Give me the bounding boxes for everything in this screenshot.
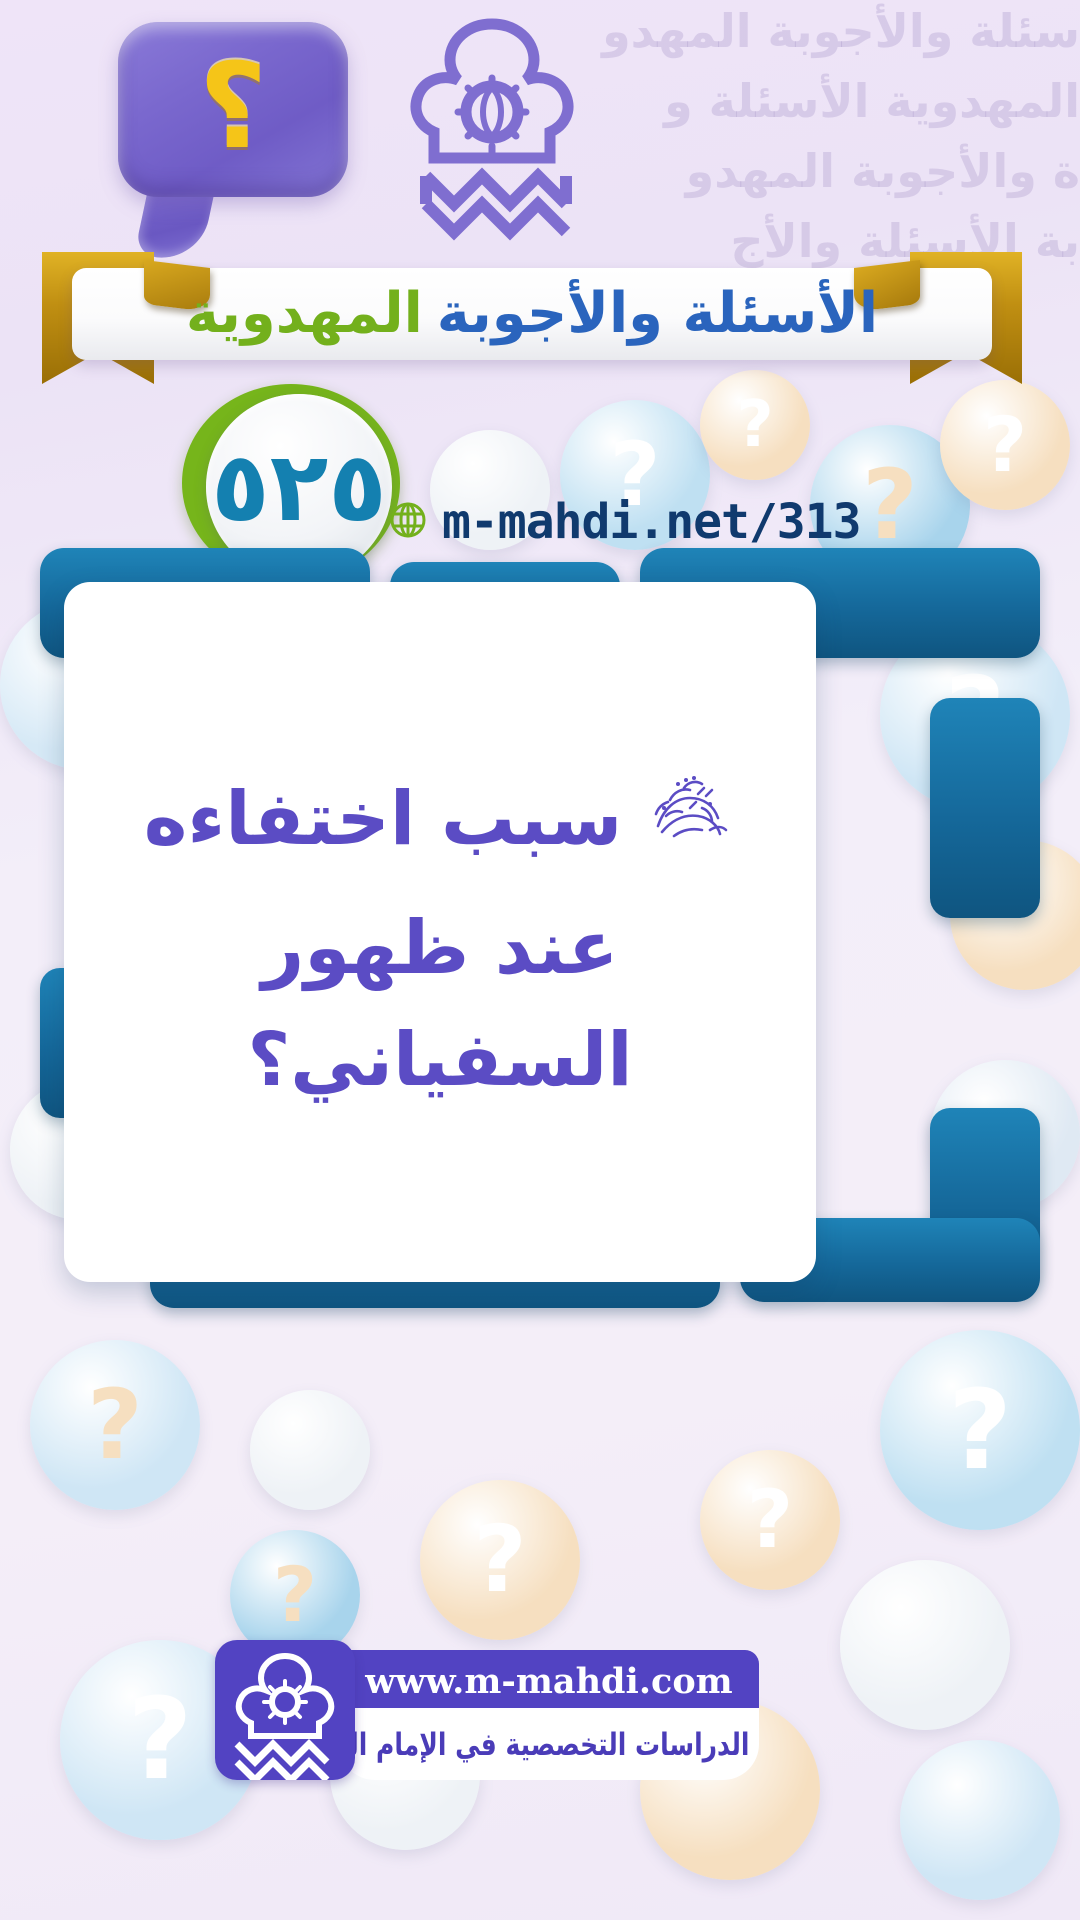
card-tab: [930, 698, 1040, 918]
footer-logo-icon[interactable]: [215, 1640, 355, 1780]
poster-root: سئلة والأجوبة المهدو المهدوية الأسئلة و …: [0, 0, 1080, 1920]
watermark-line: المهدوية الأسئلة و: [664, 78, 1080, 124]
question-mark-icon: ?: [87, 1377, 143, 1473]
footer: www.m-mahdi.com مركز الدراسات التخصصية ف…: [215, 1640, 815, 1810]
question-mark-icon: ?: [948, 1375, 1012, 1485]
question-mark-icon: ?: [473, 1514, 526, 1606]
question-mark-icon: ?: [128, 1684, 193, 1796]
question-card: سبب اختفاءه عند ظهور السفياني؟: [64, 582, 816, 1282]
decorative-bubble: [250, 1390, 370, 1510]
decorative-bubble: ?: [700, 1450, 840, 1590]
question-text-line-3: السفياني؟: [247, 1021, 632, 1099]
short-url-row[interactable]: m-mahdi.net/313: [388, 492, 860, 552]
question-text-line-2: عند ظهور: [262, 909, 619, 987]
decorative-bubble: ?: [880, 1330, 1080, 1530]
question-mark-icon: ?: [273, 1557, 317, 1633]
question-line-3: السفياني؟: [247, 1021, 632, 1099]
question-line-2: عند ظهور: [262, 909, 619, 987]
speech-bubble-icon: ؟: [118, 22, 348, 197]
footer-url-bar[interactable]: www.m-mahdi.com: [339, 1650, 759, 1712]
question-mark-icon: ?: [747, 1480, 793, 1560]
question-mark-icon: ؟: [118, 22, 348, 197]
decorative-bubble: [900, 1740, 1060, 1900]
decorative-bubble: ?: [420, 1480, 580, 1640]
footer-url-text[interactable]: www.m-mahdi.com: [365, 1661, 732, 1702]
watermark-line: ة والأجوبة المهدو: [686, 148, 1080, 194]
question-mark-icon: ?: [983, 407, 1027, 483]
title-banner: الأسئلة والأجوبة المهدوية: [32, 258, 1032, 368]
badge-number: ٥٢٥: [211, 439, 387, 535]
footer-organization-name: مركز الدراسات التخصصية في الإمام المهدي: [339, 1726, 759, 1762]
mahdi-center-ornament-logo: [372, 8, 612, 243]
globe-icon: [388, 500, 428, 544]
decorative-bubble: [840, 1560, 1010, 1730]
question-line-1: سبب اختفاءه: [144, 764, 737, 874]
question-text-line-1: سبب اختفاءه: [144, 780, 623, 858]
footer-name-scroll: مركز الدراسات التخصصية في الإمام المهدي: [339, 1708, 759, 1780]
decorative-bubble: ?: [700, 370, 810, 480]
question-mark-icon: ?: [736, 393, 773, 457]
page-title-primary: الأسئلة والأجوبة: [437, 286, 878, 342]
page-title-secondary: المهدوية: [186, 286, 423, 342]
question-mark-icon: ?: [862, 457, 918, 553]
decorative-bubble: ?: [30, 1340, 200, 1510]
watermark-line: سئلة والأجوبة المهدو: [602, 8, 1080, 54]
page-title: الأسئلة والأجوبة المهدوية: [152, 274, 912, 354]
footer-plate: www.m-mahdi.com مركز الدراسات التخصصية ف…: [339, 1650, 759, 1780]
short-url-text[interactable]: m-mahdi.net/313: [442, 494, 860, 550]
question-card-stack: سبب اختفاءه عند ظهور السفياني؟: [40, 548, 1040, 1308]
decorative-bubble: ?: [940, 380, 1070, 510]
honorific-calligraphy: [640, 764, 736, 874]
